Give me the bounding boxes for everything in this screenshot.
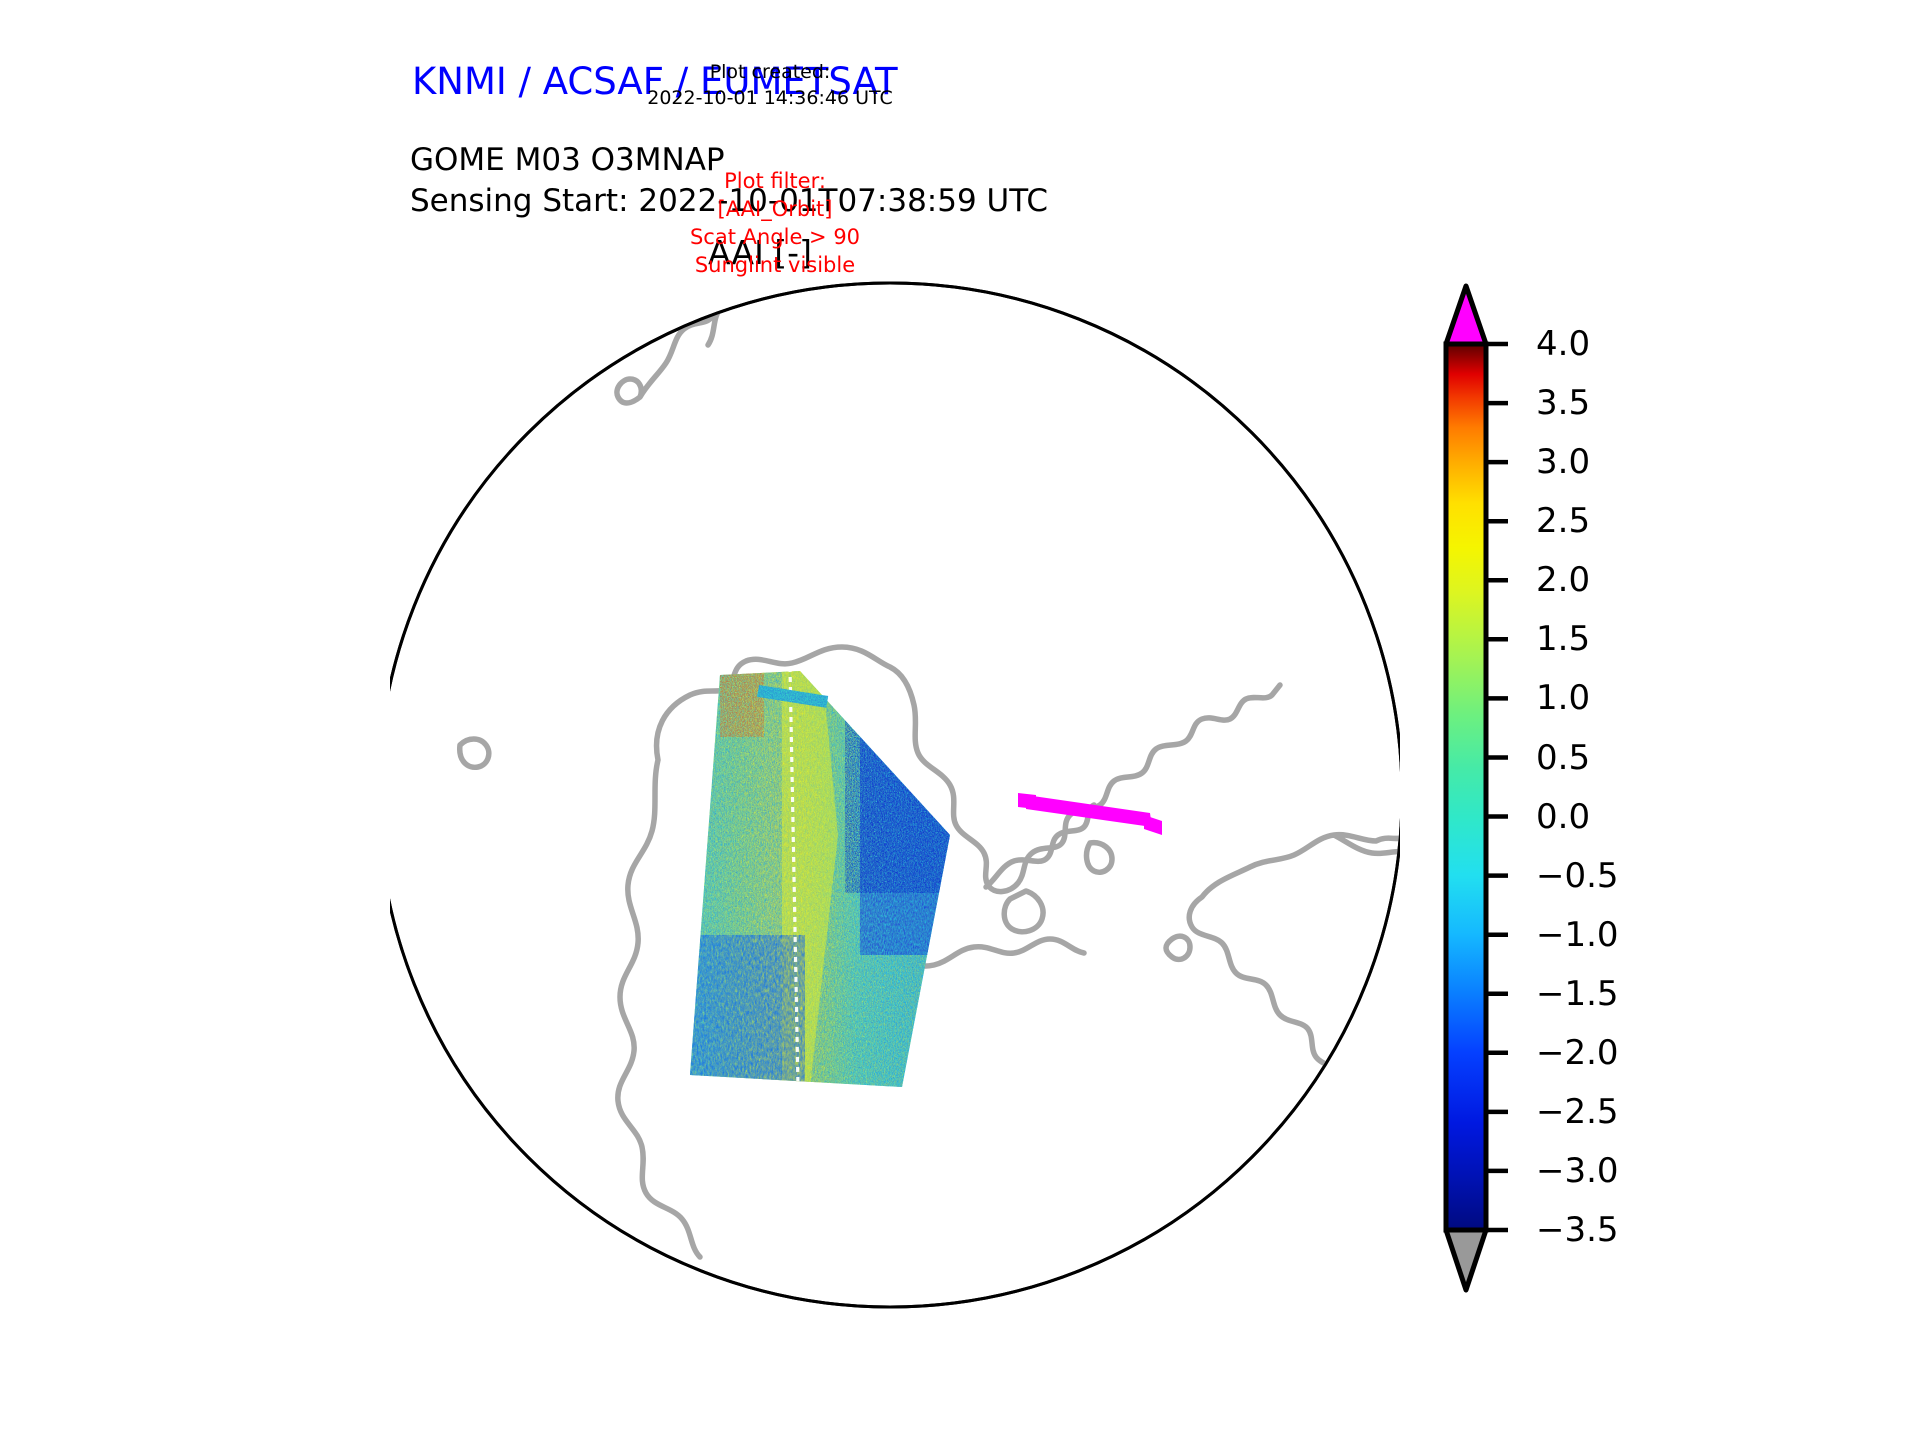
colorbar-tick-label: −0.5: [1536, 856, 1619, 896]
coastline-south-australia-edge: [390, 337, 398, 367]
colorbar-canvas: [1428, 278, 1548, 1308]
colorbar-tick-label: −1.5: [1536, 974, 1619, 1014]
plot-page: KNMI / ACSAF / EUMETSAT Plot created: 20…: [0, 0, 1920, 1440]
colorbar-tick-label: 1.0: [1536, 678, 1590, 718]
colorbar-tick-label: 2.0: [1536, 560, 1590, 600]
colorbar-tick-label: 2.5: [1536, 501, 1590, 541]
colorbar-tick-label: −2.0: [1536, 1033, 1619, 1073]
colorbar-tick-label: 3.0: [1536, 442, 1590, 482]
plot-filter-condition: Scat Angle > 90: [560, 224, 990, 252]
colorbar: 4.0 3.5 3.0 2.5 2.0 1.5 1.0 0.5 0.0 −0.5…: [1428, 278, 1848, 1308]
colorbar-tick-label: 4.0: [1536, 324, 1590, 364]
plot-filter-block: Plot filter: [AAI_Orbit] Scat Angle > 90…: [560, 168, 990, 280]
colorbar-tick-label: −3.0: [1536, 1151, 1619, 1191]
coastline-tasmania: [404, 378, 438, 414]
colorbar-tick-label: −3.5: [1536, 1210, 1619, 1250]
colorbar-tick-label: −1.0: [1536, 915, 1619, 955]
colorbar-ticks: [1486, 344, 1508, 1230]
plot-created-block: Plot created: 2022-10-01 14:36:46 UTC: [560, 60, 980, 111]
plot-filter-name: [AAI_Orbit]: [560, 196, 990, 224]
colorbar-tick-label: 0.5: [1536, 738, 1590, 778]
colorbar-tick-label: 0.0: [1536, 797, 1590, 837]
colorbar-gradient: [1446, 344, 1486, 1230]
plot-created-label: Plot created:: [560, 60, 980, 86]
colorbar-under-arrow: [1446, 1230, 1486, 1290]
colorbar-tick-labels: 4.0 3.5 3.0 2.5 2.0 1.5 1.0 0.5 0.0 −0.5…: [1536, 278, 1836, 1308]
plot-filter-label: Plot filter:: [560, 168, 990, 196]
colorbar-tick-label: 3.5: [1536, 383, 1590, 423]
plot-created-timestamp: 2022-10-01 14:36:46 UTC: [560, 86, 980, 112]
colorbar-tick-label: −2.5: [1536, 1092, 1619, 1132]
map-canvas: [390, 275, 1400, 1315]
polar-map: [390, 275, 1400, 1315]
colorbar-tick-label: 1.5: [1536, 619, 1590, 659]
colorbar-over-arrow: [1446, 286, 1486, 344]
